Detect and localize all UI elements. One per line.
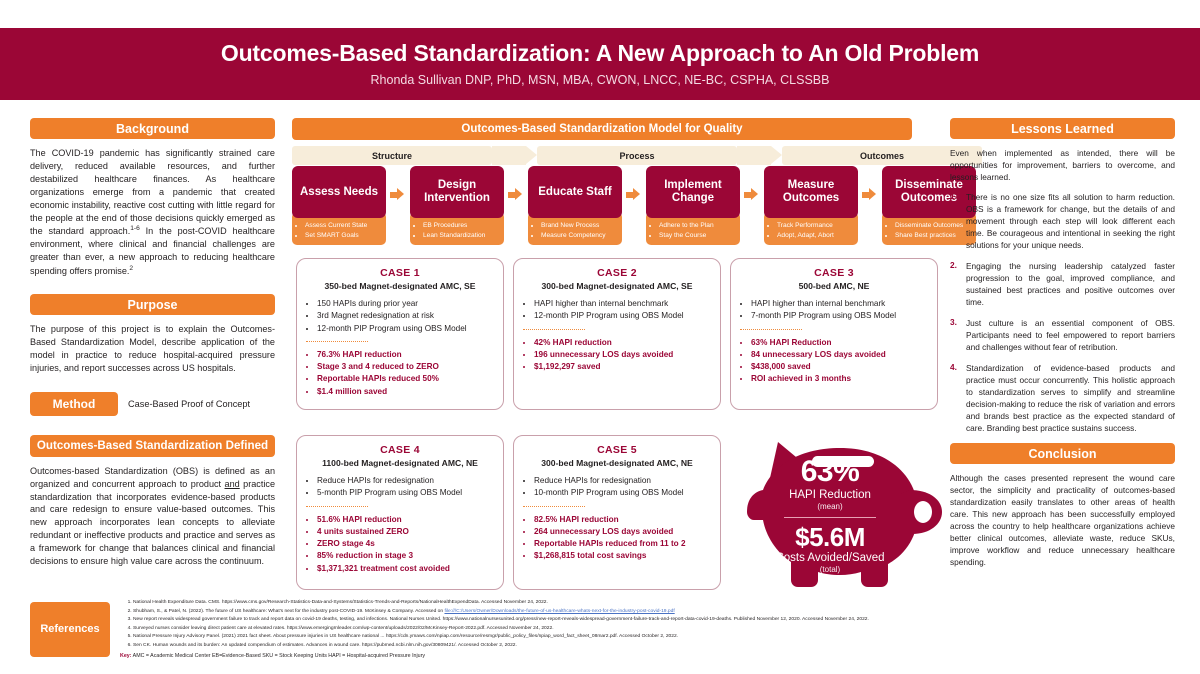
list-item: Reportable HAPIs reduced 50% [317,373,494,385]
poster-header: Outcomes-Based Standardization: A New Ap… [0,28,1200,100]
author-line: Rhonda Sullivan DNP, PhD, MSN, MBA, CWON… [371,73,830,87]
method-text: Case-Based Proof of Concept [128,399,250,409]
model-diagram: Outcomes-Based Standardization Model for… [292,118,912,140]
section-heading-purpose: Purpose [30,294,275,315]
model-step-title: Assess Needs [292,166,386,218]
section-heading-obs-defined: Outcomes-Based Standardization Defined [30,435,275,457]
list-item: 10-month PIP Program using OBS Model [534,487,711,499]
list-item: 3. Just culture is an essential componen… [950,317,1175,353]
case-card-3: CASE 3 500-bed AMC, NE HAPI higher than … [730,258,938,410]
list-item: Reduce HAPIs for redesignation [317,475,494,487]
case-card-4: CASE 4 1100-bed Magnet-designated AMC, N… [296,435,504,590]
case-card-5: CASE 5 300-bed Magnet-designated AMC, NE… [513,435,721,590]
case-title: CASE 4 [306,444,494,456]
lessons-intro-text: Even when implemented as intended, there… [950,147,1175,183]
right-column: Lessons Learned Even when implemented as… [950,118,1175,568]
lesson-number: 4. [950,362,961,434]
reference-item: Sen CK. Human wounds and its burden: An … [133,642,869,651]
model-step-bullet: Adopt, Adapt, Abort [777,231,853,241]
reference-item: New report reveals widespread government… [133,616,869,625]
case-divider [740,329,802,330]
list-item: 76.3% HAPI reduction [317,349,494,361]
lesson-number: 2. [950,260,961,308]
model-step-measure-outcomes: Measure Outcomes Track Performance Adopt… [764,166,858,245]
list-item: 2. Engaging the nursing leadership catal… [950,260,1175,308]
model-step-bullet: Assess Current State [305,221,381,231]
stage-chevron-1-icon [492,146,526,165]
case-title: CASE 5 [523,444,711,456]
model-step-implement-change: Implement Change Adhere to the Plan Stay… [646,166,740,245]
list-item: 196 unnecessary LOS days avoided [534,349,711,361]
reference-item: National Health Expenditure Data. CMS. h… [133,599,869,608]
list-item: ZERO stage 4s [317,538,494,550]
model-step-title: Educate Staff [528,166,622,218]
list-item: 5-month PIP Program using OBS Model [317,487,494,499]
flow-arrow-5-icon [862,188,876,201]
flow-arrow-3-icon [626,188,640,201]
section-heading-references: References [30,602,110,657]
case-subtitle: 300-bed Magnet-designated AMC, NE [523,458,711,468]
conclusion-text: Although the cases presented represent t… [950,472,1175,568]
references-list: National Health Expenditure Data. CMS. h… [120,597,869,662]
list-item: 4 units sustained ZERO [317,526,494,538]
model-step-title: Implement Change [646,166,740,218]
model-step-title: Measure Outcomes [764,166,858,218]
model-title-bar: Outcomes-Based Standardization Model for… [292,118,912,140]
list-item: 84 unnecessary LOS days avoided [751,349,928,361]
list-item: 42% HAPI reduction [534,337,711,349]
stage-chevron-2-icon [737,146,771,165]
list-item: 1. There is no one size fits all solutio… [950,191,1175,251]
model-step-design-intervention: Design Intervention EB Procedures Lean S… [410,166,504,245]
reference-item: Surveyed nurses consider leaving direct … [133,625,869,634]
section-heading-conclusion: Conclusion [950,443,1175,464]
case-facts-list: 150 HAPIs during prior year 3rd Magnet r… [306,298,494,335]
key-legend: Key: AMC = Academic Medical Center EB=Ev… [120,652,869,661]
case-results-list: 51.6% HAPI reduction 4 units sustained Z… [306,514,494,575]
case-subtitle: 350-bed Magnet-designated AMC, SE [306,281,494,291]
case-divider [306,506,368,507]
piggy-divider [784,517,876,518]
hapi-reduction-value: 63% [770,458,890,487]
purpose-text: The purpose of this project is to explai… [30,323,275,375]
list-item: 82.5% HAPI reduction [534,514,711,526]
model-step-bullet: Stay the Course [659,231,735,241]
list-item: 85% reduction in stage 3 [317,550,494,562]
section-heading-method: Method [30,392,118,416]
key-text: AMC = Academic Medical Center EB=Evidenc… [133,653,425,659]
case-divider [523,506,585,507]
list-item: $1,268,815 total cost savings [534,550,711,562]
model-step-bullet: Measure Competency [541,231,617,241]
references-section: References National Health Expenditure D… [30,597,930,662]
model-step-bullet: Track Performance [777,221,853,231]
obs-definition-text: Outcomes-based Standardization (OBS) is … [30,465,275,568]
list-item: Stage 3 and 4 reduced to ZERO [317,361,494,373]
case-facts-list: HAPI higher than internal benchmark 7-mo… [740,298,928,323]
list-item: 12-month PIP Program using OBS Model [317,323,494,335]
list-item: 12-month PIP Program using OBS Model [534,310,711,322]
lesson-number: 1. [950,191,961,251]
list-item: 264 unnecessary LOS days avoided [534,526,711,538]
lesson-text: Just culture is an essential component o… [966,317,1175,353]
hapi-reduction-label: HAPI Reduction [770,489,890,502]
list-item: 150 HAPIs during prior year [317,298,494,310]
obs-text-part-2: practice standardization that incorporat… [30,479,275,566]
list-item: HAPI higher than internal benchmark [534,298,711,310]
lesson-text: Standardization of evidence-based produc… [966,362,1175,434]
case-results-list: 82.5% HAPI reduction 264 unnecessary LOS… [523,514,711,563]
case-facts-list: Reduce HAPIs for redesignation 10-month … [523,475,711,500]
model-stage-process: Process [537,146,737,165]
case-results-list: 42% HAPI reduction 196 unnecessary LOS d… [523,337,711,374]
case-title: CASE 1 [306,267,494,279]
list-item: ROI achieved in 3 months [751,373,928,385]
method-row: Method Case-Based Proof of Concept [30,392,275,416]
case-divider [523,329,585,330]
case-facts-list: HAPI higher than internal benchmark 12-m… [523,298,711,323]
list-item: Reduce HAPIs for redesignation [534,475,711,487]
case-title: CASE 3 [740,267,928,279]
list-item: 3rd Magnet redesignation at risk [317,310,494,322]
case-subtitle: 1100-bed Magnet-designated AMC, NE [306,458,494,468]
flow-arrow-2-icon [508,188,522,201]
list-item: HAPI higher than internal benchmark [751,298,928,310]
case-subtitle: 500-bed AMC, NE [740,281,928,291]
page-title: Outcomes-Based Standardization: A New Ap… [221,41,979,65]
reference-link[interactable]: file:///C:/Users/Owner/Downloads/the-fut… [444,609,674,614]
poster-canvas: Outcomes-Based Standardization: A New Ap… [0,0,1200,674]
list-item: 51.6% HAPI reduction [317,514,494,526]
reference-text: Shubham, S., & Patel, N. (2022). The fut… [133,609,444,614]
case-subtitle: 300-bed Magnet-designated AMC, SE [523,281,711,291]
model-stage-structure: Structure [292,146,492,165]
reference-item: Shubham, S., & Patel, N. (2022). The fut… [133,608,869,617]
case-divider [306,341,368,342]
list-item: $1.4 million saved [317,386,494,398]
lesson-number: 3. [950,317,961,353]
lessons-list: 1. There is no one size fits all solutio… [950,191,1175,434]
key-label: Key: [120,653,131,659]
flow-arrow-1-icon [390,188,404,201]
model-step-bullet: Adhere to the Plan [659,221,735,231]
background-text-part-a: The COVID-19 pandemic has significantly … [30,148,275,236]
cost-saved-label: Costs Avoided/Saved [770,552,890,565]
case-facts-list: Reduce HAPIs for redesignation 5-month P… [306,475,494,500]
section-heading-lessons-learned: Lessons Learned [950,118,1175,139]
list-item: $1,192,297 saved [534,361,711,373]
model-step-educate-staff: Educate Staff Brand New Process Measure … [528,166,622,245]
cost-saved-note: (total) [770,565,890,574]
list-item: 4. Standardization of evidence-based pro… [950,362,1175,434]
section-heading-background: Background [30,118,275,139]
case-results-list: 76.3% HAPI reduction Stage 3 and 4 reduc… [306,349,494,398]
list-item: Reportable HAPIs reduced from 11 to 2 [534,538,711,550]
model-step-title: Design Intervention [410,166,504,218]
background-citation-b: 2 [129,265,133,272]
case-card-2: CASE 2 300-bed Magnet-designated AMC, SE… [513,258,721,410]
list-item: $1,371,321 treatment cost avoided [317,563,494,575]
background-citation-a: 1-6 [130,225,140,232]
background-text: The COVID-19 pandemic has significantly … [30,147,275,278]
lesson-text: There is no one size fits all solution t… [966,191,1175,251]
list-item: 7-month PIP Program using OBS Model [751,310,928,322]
piggy-stats: 63% HAPI Reduction (mean) $5.6M Costs Av… [770,458,890,574]
case-title: CASE 2 [523,267,711,279]
piggy-bank-summary: 63% HAPI Reduction (mean) $5.6M Costs Av… [740,420,945,600]
case-card-1: CASE 1 350-bed Magnet-designated AMC, SE… [296,258,504,410]
left-column: Background The COVID-19 pandemic has sig… [30,118,275,568]
model-step-assess-needs: Assess Needs Assess Current State Set SM… [292,166,386,245]
cost-saved-value: $5.6M [770,524,890,550]
list-item: 63% HAPI Reduction [751,337,928,349]
model-step-bullet: Set SMART Goals [305,231,381,241]
list-item: $438,000 saved [751,361,928,373]
reference-item: National Pressure Injury Advisory Panel.… [133,633,869,642]
case-results-list: 63% HAPI Reduction 84 unnecessary LOS da… [740,337,928,386]
model-step-bullet: Lean Standardization [423,231,499,241]
model-step-bullet: Brand New Process [541,221,617,231]
lesson-text: Engaging the nursing leadership catalyze… [966,260,1175,308]
hapi-reduction-note: (mean) [770,502,890,511]
flow-arrow-4-icon [744,188,758,201]
model-step-bullet: EB Procedures [423,221,499,231]
obs-text-emphasis: and [225,479,240,489]
